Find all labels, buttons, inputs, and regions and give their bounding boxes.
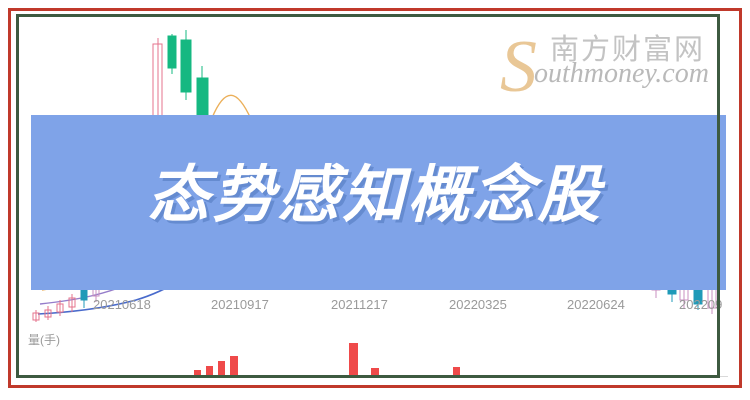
volume-baseline — [22, 376, 728, 377]
volume-bar — [371, 368, 379, 376]
x-tick-label: 20210917 — [211, 297, 269, 312]
candlestick-svg — [22, 22, 728, 374]
stock-chart-image: 态势感知概念股 20210618 20210917 20211217 20220… — [0, 0, 750, 400]
volume-bar — [206, 366, 213, 376]
candle-group-decline — [229, 152, 356, 284]
price-chart — [22, 22, 728, 374]
x-tick-label: 20220624 — [567, 297, 625, 312]
volume-bar — [230, 356, 238, 376]
x-tick-label: 20211217 — [331, 297, 388, 312]
x-tick-label: 20210618 — [93, 297, 151, 312]
volume-bar — [349, 343, 358, 376]
volume-bars — [31, 340, 726, 376]
volume-bar — [453, 367, 460, 376]
x-tick-label: 202209 — [679, 297, 722, 312]
x-tick-label: 20220325 — [449, 297, 507, 312]
volume-bar — [218, 361, 225, 376]
x-axis-labels: 20210618 20210917 20211217 20220325 2022… — [31, 297, 731, 315]
